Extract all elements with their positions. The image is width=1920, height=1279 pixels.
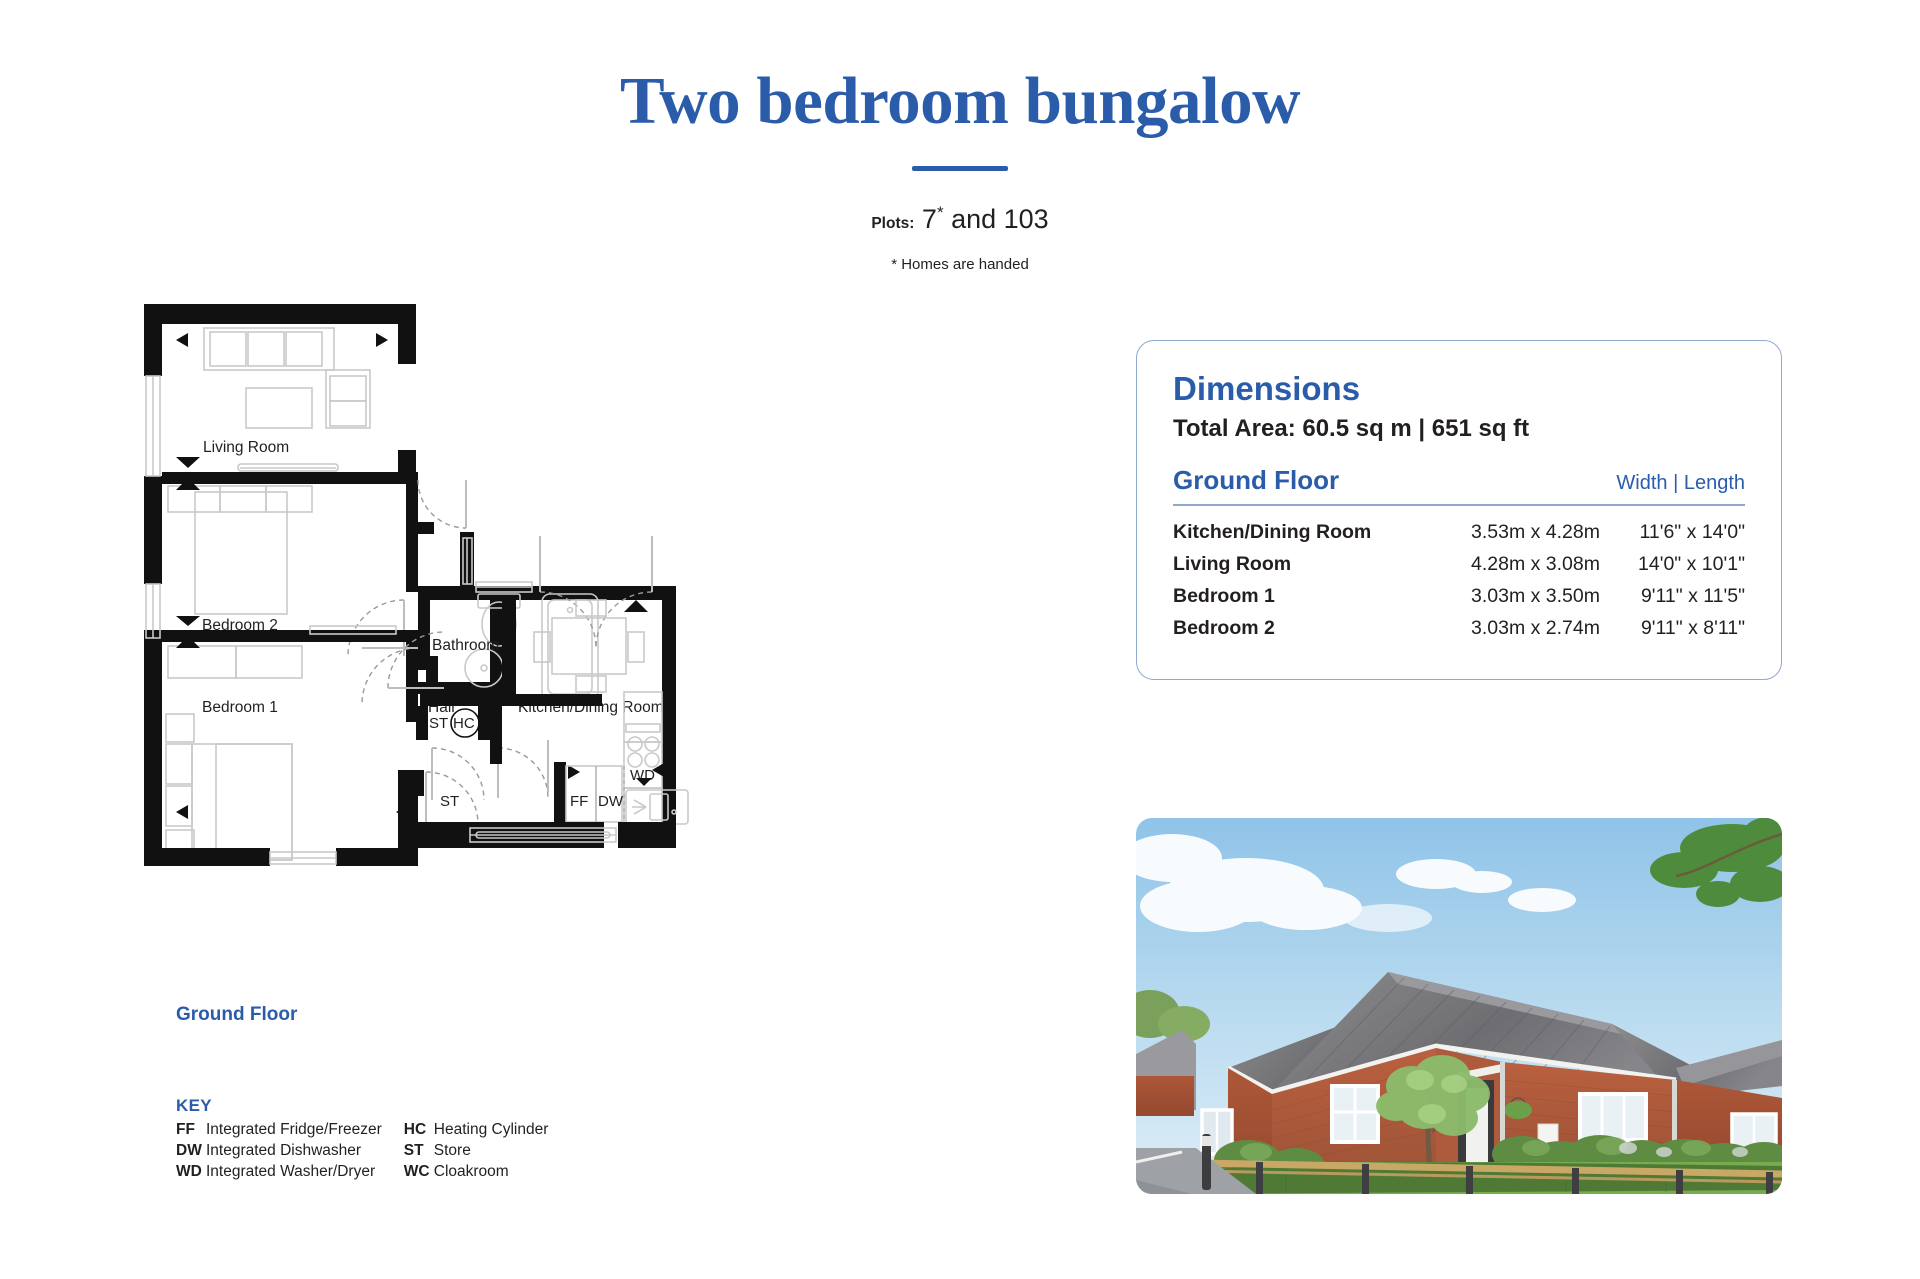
key-item-wd: WDIntegrated Washer/Dryer — [176, 1163, 382, 1181]
floorplan-drawing: .w{fill:#111;} .thin{fill:none;stroke:#c… — [140, 300, 880, 990]
marker-dishwasher: DW — [598, 793, 624, 810]
dimensions-total-area: Total Area: 60.5 sq m | 651 sq ft — [1173, 415, 1745, 443]
marker-store-upper: ST — [429, 715, 448, 732]
plots-value: 7 — [922, 204, 937, 234]
dimensions-table: Kitchen/Dining Room 3.53m x 4.28m 11'6" … — [1173, 517, 1745, 645]
dimensions-columns-label: Width | Length — [1616, 472, 1745, 495]
dimension-imperial: 14'0" x 10'1" — [1606, 549, 1745, 581]
key-column-right: HCHeating Cylinder STStore WCCloakroom — [404, 1121, 549, 1181]
key-item-wc: WCCloakroom — [404, 1163, 549, 1181]
dimension-room-name: Bedroom 2 — [1173, 613, 1431, 645]
page-title: Two bedroom bungalow — [0, 66, 1920, 136]
key-desc-dw: Integrated Dishwasher — [206, 1142, 361, 1159]
plots-line: Plots: 7* and 103 — [0, 203, 1920, 235]
dimension-room-name: Living Room — [1173, 549, 1431, 581]
dimension-room-name: Bedroom 1 — [1173, 581, 1431, 613]
key-abbr-st: ST — [404, 1142, 434, 1160]
table-row: Bedroom 1 3.03m x 3.50m 9'11" x 11'5" — [1173, 581, 1745, 613]
floorplan-caption: Ground Floor — [176, 1004, 297, 1026]
table-row: Kitchen/Dining Room 3.53m x 4.28m 11'6" … — [1173, 517, 1745, 549]
key-desc-hc: Heating Cylinder — [434, 1121, 549, 1138]
dimension-metric: 3.03m x 2.74m — [1431, 613, 1606, 645]
key-legend: KEY FFIntegrated Fridge/Freezer DWIntegr… — [176, 1096, 606, 1181]
key-item-dw: DWIntegrated Dishwasher — [176, 1142, 382, 1160]
dimensions-floor-label: Ground Floor — [1173, 465, 1339, 496]
property-photograph — [1136, 818, 1782, 1194]
key-column-left: FFIntegrated Fridge/Freezer DWIntegrated… — [176, 1121, 382, 1181]
key-desc-wc: Cloakroom — [434, 1163, 509, 1180]
marker-store-lower: ST — [440, 793, 459, 810]
key-abbr-hc: HC — [404, 1121, 434, 1139]
key-item-ff: FFIntegrated Fridge/Freezer — [176, 1121, 382, 1139]
dimension-imperial: 9'11" x 8'11" — [1606, 613, 1745, 645]
key-abbr-wc: WC — [404, 1163, 434, 1181]
key-abbr-dw: DW — [176, 1142, 206, 1160]
plots-label: Plots: — [871, 215, 914, 232]
homes-handed-note: * Homes are handed — [0, 256, 1920, 273]
marker-fridge-freezer: FF — [570, 793, 588, 810]
dimensions-divider — [1173, 504, 1745, 506]
dimension-metric: 3.53m x 4.28m — [1431, 517, 1606, 549]
key-desc-st: Store — [434, 1142, 471, 1159]
room-label-bedroom-1: Bedroom 1 — [202, 699, 278, 716]
dimension-imperial: 9'11" x 11'5" — [1606, 581, 1745, 613]
key-item-hc: HCHeating Cylinder — [404, 1121, 549, 1139]
dimension-metric: 4.28m x 3.08m — [1431, 549, 1606, 581]
key-item-st: STStore — [404, 1142, 549, 1160]
room-label-living-room: Living Room — [203, 439, 289, 456]
key-desc-wd: Integrated Washer/Dryer — [206, 1163, 375, 1180]
key-desc-ff: Integrated Fridge/Freezer — [206, 1121, 382, 1138]
plots-asterisk: * — [937, 203, 944, 222]
dimension-metric: 3.03m x 3.50m — [1431, 581, 1606, 613]
plots-rest: and 103 — [944, 204, 1049, 234]
key-abbr-wd: WD — [176, 1163, 206, 1181]
dimension-imperial: 11'6" x 14'0" — [1606, 517, 1745, 549]
room-label-bathroom: Bathroom — [432, 637, 499, 654]
key-abbr-ff: FF — [176, 1121, 206, 1139]
dimensions-card: Dimensions Total Area: 60.5 sq m | 651 s… — [1136, 340, 1782, 680]
title-underline-rule — [912, 166, 1008, 171]
marker-heating-cylinder: HC — [453, 715, 475, 732]
dimensions-title: Dimensions — [1173, 371, 1745, 407]
table-row: Living Room 4.28m x 3.08m 14'0" x 10'1" — [1173, 549, 1745, 581]
dimension-room-name: Kitchen/Dining Room — [1173, 517, 1431, 549]
key-title: KEY — [176, 1096, 606, 1116]
table-row: Bedroom 2 3.03m x 2.74m 9'11" x 8'11" — [1173, 613, 1745, 645]
